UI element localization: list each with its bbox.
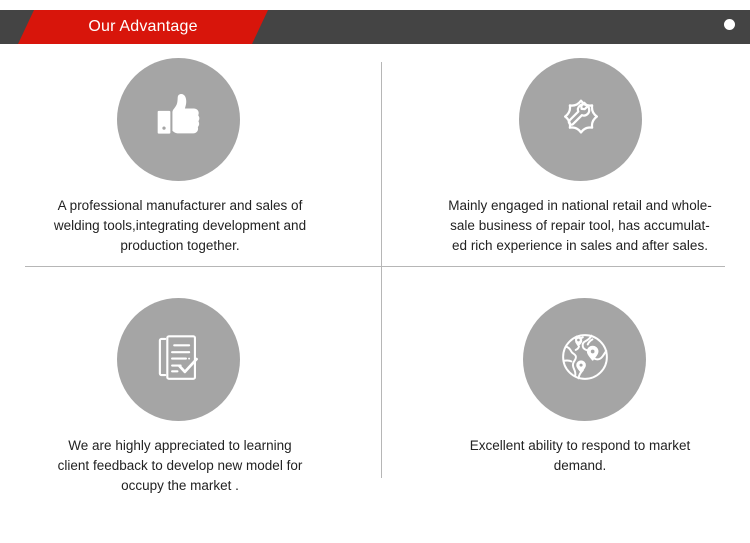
document-checkmark-icon: [145, 323, 213, 396]
dot-icon: [724, 19, 735, 30]
thumbs-up-icon: [144, 82, 214, 157]
icon-circle: [117, 58, 240, 181]
header-banner: Our Advantage: [18, 10, 268, 44]
page-title: Our Advantage: [18, 10, 268, 44]
divider-vertical: [381, 62, 382, 478]
icon-circle: [519, 58, 642, 181]
advantage-text: Excellent ability to respond to market d…: [400, 436, 750, 476]
gear-wrench-icon: [545, 81, 617, 158]
advantage-text: Mainly engaged in national retail and wh…: [400, 196, 750, 256]
icon-circle: [117, 298, 240, 421]
divider-horizontal: [25, 266, 725, 267]
advantage-card-4: Excellent ability to respond to market d…: [400, 298, 750, 476]
advantage-card-2: Mainly engaged in national retail and wh…: [400, 58, 750, 256]
advantage-text: A professional manufacturer and sales of…: [0, 196, 360, 256]
advantage-card-3: We are highly appreciated to learning cl…: [0, 298, 360, 496]
advantage-text: We are highly appreciated to learning cl…: [0, 436, 360, 496]
advantage-card-1: A professional manufacturer and sales of…: [0, 58, 360, 256]
icon-circle: [523, 298, 646, 421]
globe-pins-icon: [550, 322, 620, 397]
